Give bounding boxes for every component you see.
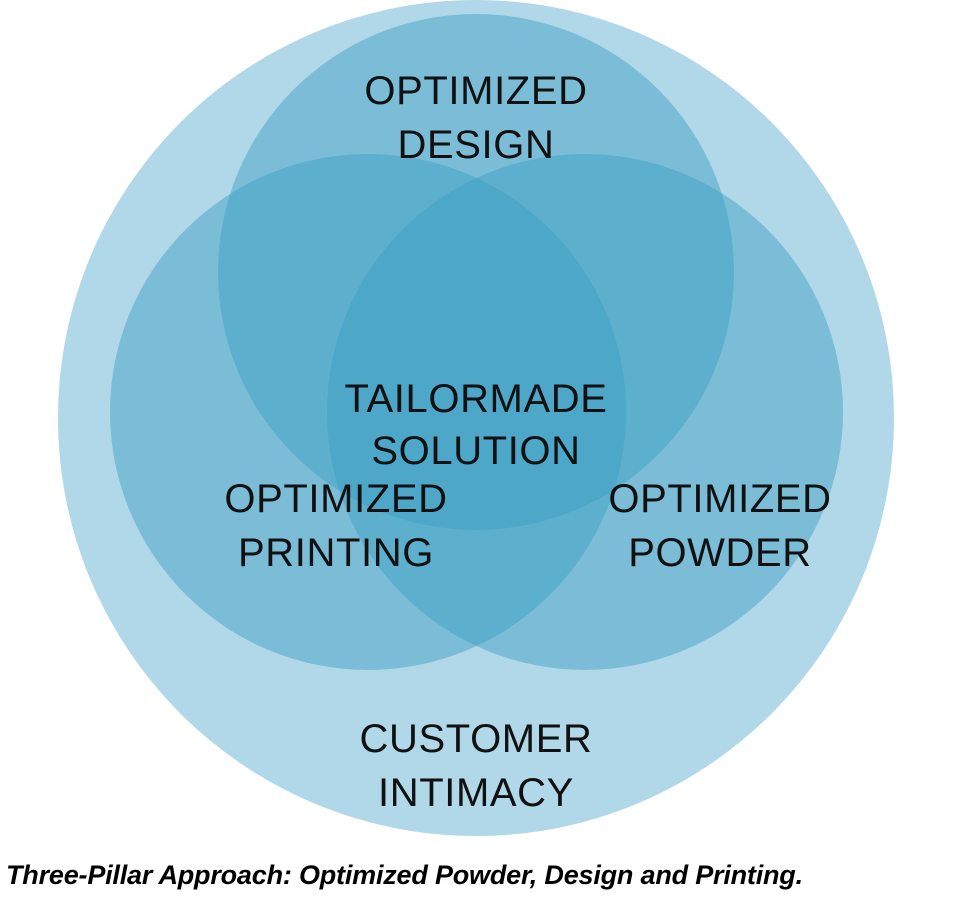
optimized-design-line1: OPTIMIZED [364, 69, 587, 113]
figure-caption-bar: Three-Pillar Approach: Optimized Powder,… [0, 840, 953, 911]
customer-intimacy-line1: CUSTOMER [360, 717, 593, 761]
optimized-design-line2: DESIGN [398, 123, 555, 167]
optimized-powder-line1: OPTIMIZED [608, 477, 831, 521]
venn-svg: OPTIMIZED DESIGN TAILORMADE SOLUTION OPT… [0, 0, 953, 840]
optimized-powder-line2: POWDER [628, 531, 812, 575]
figure-caption: Three-Pillar Approach: Optimized Powder,… [0, 860, 803, 891]
figure-root: OPTIMIZED DESIGN TAILORMADE SOLUTION OPT… [0, 0, 953, 911]
tailormade-solution-line1: TAILORMADE [344, 377, 607, 421]
optimized-printing-line1: OPTIMIZED [224, 477, 447, 521]
tailormade-solution-line2: SOLUTION [371, 429, 580, 473]
venn-diagram: OPTIMIZED DESIGN TAILORMADE SOLUTION OPT… [0, 0, 953, 840]
optimized-printing-line2: PRINTING [238, 531, 434, 575]
customer-intimacy-line2: INTIMACY [378, 771, 574, 815]
